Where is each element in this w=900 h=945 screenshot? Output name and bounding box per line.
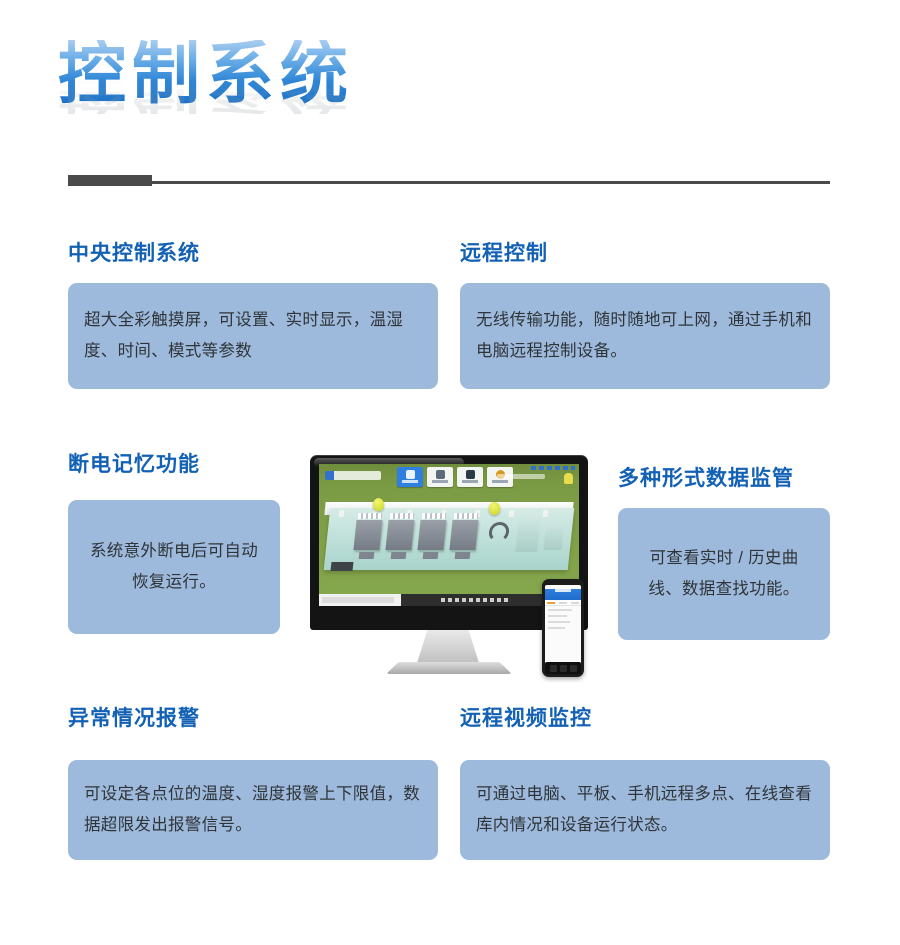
device-illustration (310, 455, 595, 680)
phone-list-row (548, 609, 572, 611)
screen-indicator-dots (531, 466, 575, 470)
screen-bottom-bar (319, 594, 579, 606)
person-icon (436, 470, 445, 479)
phone-app-header (545, 589, 581, 600)
feature-box-power-failure-memory: 系统意外断电后可自动恢复运行。 (68, 500, 280, 634)
screen-tab-monitor (397, 467, 423, 487)
phone-list-row (548, 621, 570, 623)
monitor-icon (406, 470, 415, 479)
divider-line (68, 181, 830, 184)
feature-heading-power-failure-memory: 断电记忆功能 (68, 448, 200, 478)
feature-heading-remote-video-monitoring: 远程视频监控 (460, 702, 592, 732)
feature-heading-central-control-system: 中央控制系统 (68, 237, 200, 267)
phone-list-row (548, 627, 565, 629)
feature-box-multi-form-data-supervision: 可查看实时 / 历史曲线、数据查找功能。 (618, 508, 830, 640)
temperature-sensor-icon (489, 502, 500, 515)
monitor-stand-base (386, 662, 512, 674)
phone-app-title-bar (555, 589, 571, 592)
warehouse-3d-plan (321, 498, 577, 580)
plan-floor-unit (423, 552, 439, 559)
plan-dark-unit (331, 562, 354, 571)
tab-label-bar (432, 480, 448, 483)
plan-pillar (339, 510, 345, 517)
plan-storage-rack (385, 520, 414, 550)
feature-box-remote-video-monitoring: 可通过电脑、平板、手机远程多点、在线查看库内情况和设备运行状态。 (460, 760, 830, 860)
tab-label-bar (462, 480, 478, 483)
screen-tab-bar (397, 467, 513, 487)
screen-lamp-icon (564, 473, 573, 484)
plan-pillar (509, 510, 515, 517)
screen-tab-users (427, 467, 453, 487)
tab-label-bar (402, 480, 418, 483)
phone-tab (559, 602, 567, 604)
plan-pillar (543, 510, 549, 517)
camera-icon (466, 470, 475, 479)
screen-status-text (497, 474, 545, 479)
phone-tab (547, 602, 555, 604)
feature-box-abnormal-condition-alarm: 可设定各点位的温度、湿度报警上下限值，数据超限发出报警信号。 (68, 760, 438, 860)
tab-label-bar (492, 480, 508, 483)
screen-logo-icon (325, 471, 381, 480)
phone-button (560, 665, 567, 672)
smartphone (542, 579, 584, 677)
feature-box-central-control-system: 超大全彩触摸屏，可设置、实时显示，温湿度、时间、模式等参数 (68, 283, 438, 389)
feature-heading-abnormal-condition-alarm: 异常情况报警 (68, 702, 200, 732)
screen-tab-camera (457, 467, 483, 487)
plan-equipment-panel (544, 522, 565, 550)
phone-data-list (545, 606, 581, 629)
divider-accent-bar (68, 175, 152, 186)
page-title-block: 控制系统 控制系统 (58, 40, 478, 170)
plan-floor-unit (359, 552, 375, 559)
monitor-stand-neck (416, 630, 480, 666)
phone-button (570, 665, 577, 672)
phone-home-controls (545, 662, 581, 674)
feature-box-remote-control: 无线传输功能，随时随地可上网，通过手机和电脑远程控制设备。 (460, 283, 830, 389)
screen-bottom-left-segment (322, 597, 394, 603)
feature-heading-multi-form-data-supervision: 多种形式数据监管 (618, 462, 794, 492)
page-title: 控制系统 (58, 40, 478, 108)
control-system-infographic: 控制系统 控制系统 中央控制系统 超大全彩触摸屏，可设置、实时显示，温湿度、时间… (0, 0, 900, 945)
plan-floor-unit (455, 552, 471, 559)
divider (68, 175, 830, 187)
plan-storage-rack (417, 520, 446, 550)
plan-storage-rack (353, 520, 382, 550)
monitor-screen (319, 464, 579, 606)
temperature-sensor-icon (373, 498, 384, 511)
plan-equipment-panel (515, 518, 541, 552)
screen-bottom-ticker (441, 598, 511, 602)
plan-storage-rack (449, 520, 478, 550)
feature-heading-remote-control: 远程控制 (460, 237, 548, 267)
phone-tab (571, 602, 579, 604)
phone-button (550, 665, 557, 672)
plan-floor-unit (391, 552, 407, 559)
phone-list-row (548, 615, 567, 617)
phone-screen (545, 585, 581, 664)
